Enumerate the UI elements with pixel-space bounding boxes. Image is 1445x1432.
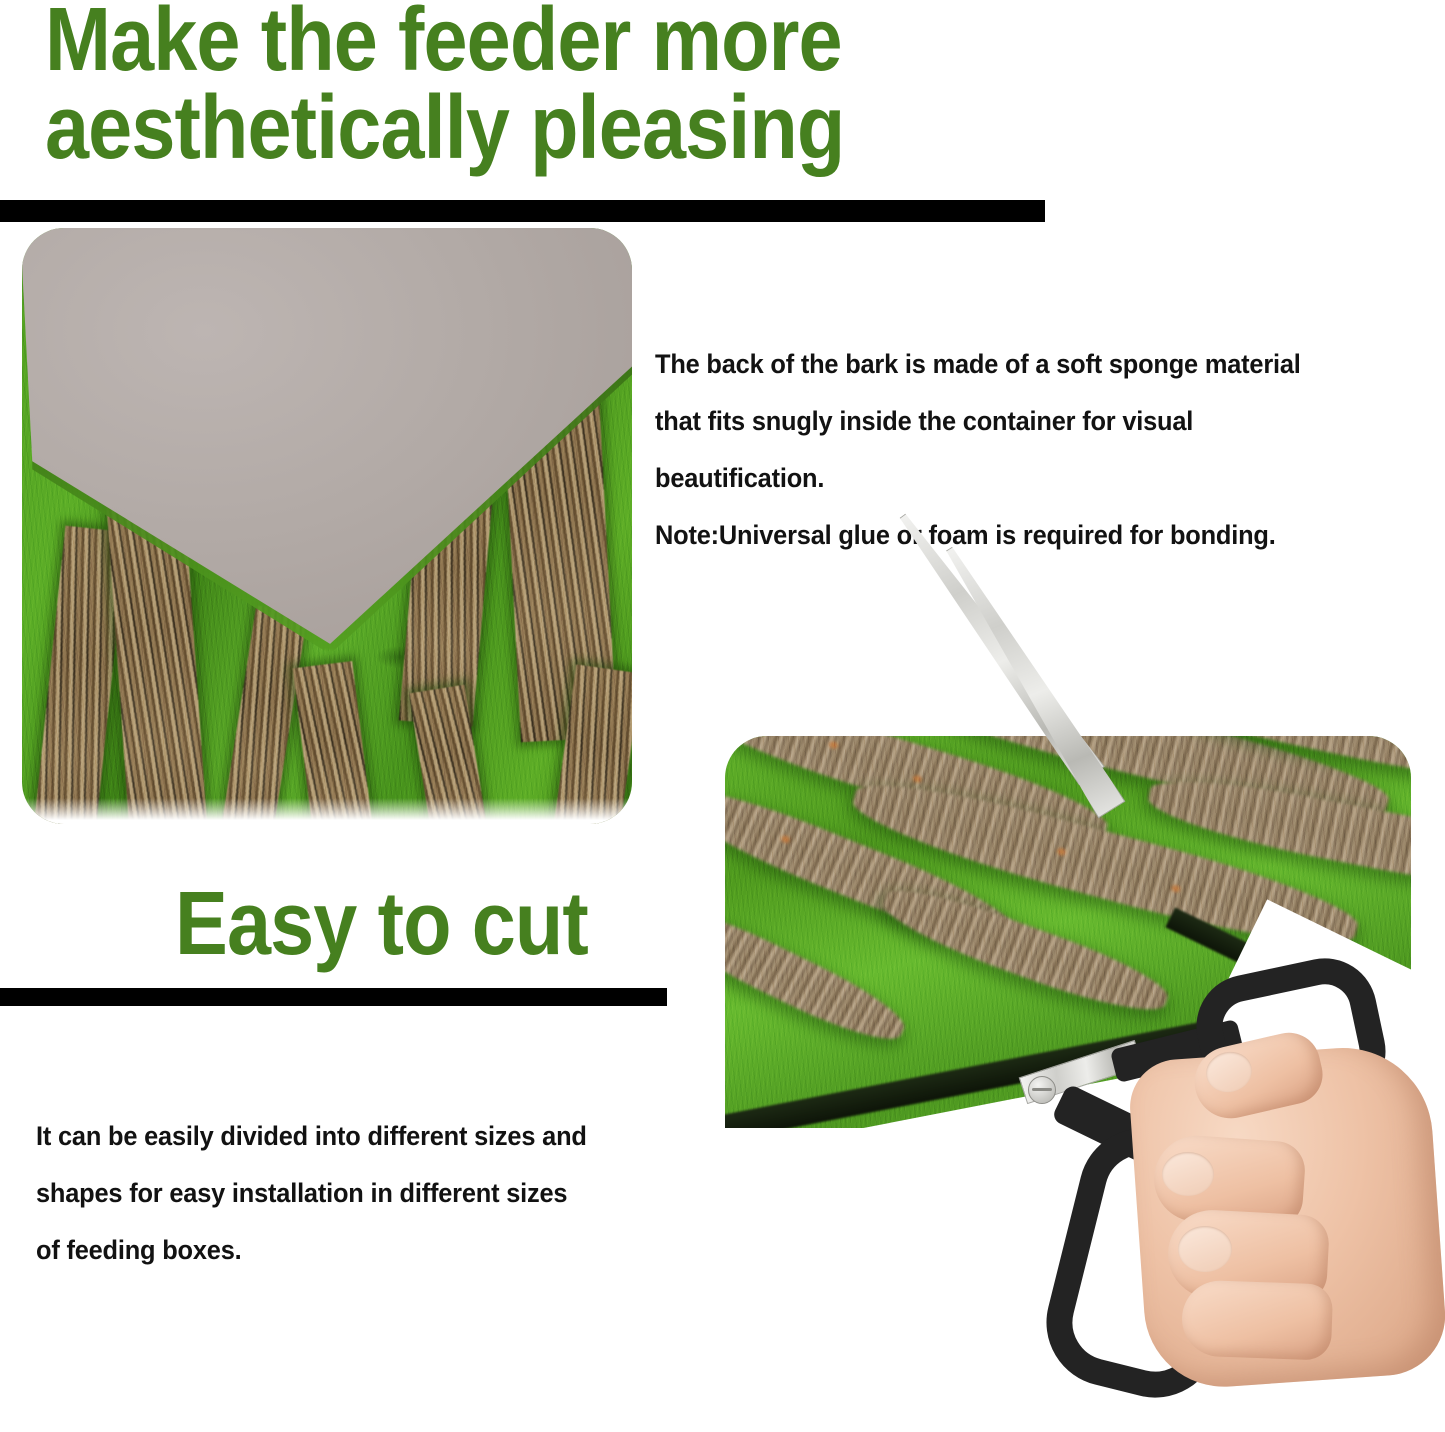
scissor-pivot-screw [1028, 1076, 1056, 1104]
section-heading-primary: Make the feeder more aesthetically pleas… [45, 0, 1083, 172]
hand-finger-ring [1181, 1279, 1334, 1360]
mat-bottom-fade [22, 798, 632, 824]
heading-divider-top [0, 200, 1045, 222]
heading-divider-mid [0, 988, 667, 1006]
section-body-secondary: It can be easily divided into different … [36, 1108, 694, 1279]
bark-pebble [780, 834, 791, 844]
infographic-canvas: Make the feeder more aesthetically pleas… [0, 0, 1445, 1432]
finger-nail-index [1162, 1152, 1214, 1196]
scissors-in-hand [900, 930, 1445, 1432]
bark-pebble [1171, 884, 1182, 893]
bark-pebble [1056, 847, 1067, 856]
finger-nail-middle [1178, 1226, 1232, 1272]
bark-pebble [828, 740, 839, 749]
product-photo-sponge-backing [22, 228, 632, 824]
section-body-primary: The back of the bark is made of a soft s… [655, 336, 1435, 564]
bark-pebble [912, 774, 923, 783]
section-heading-secondary: Easy to cut [175, 880, 588, 968]
